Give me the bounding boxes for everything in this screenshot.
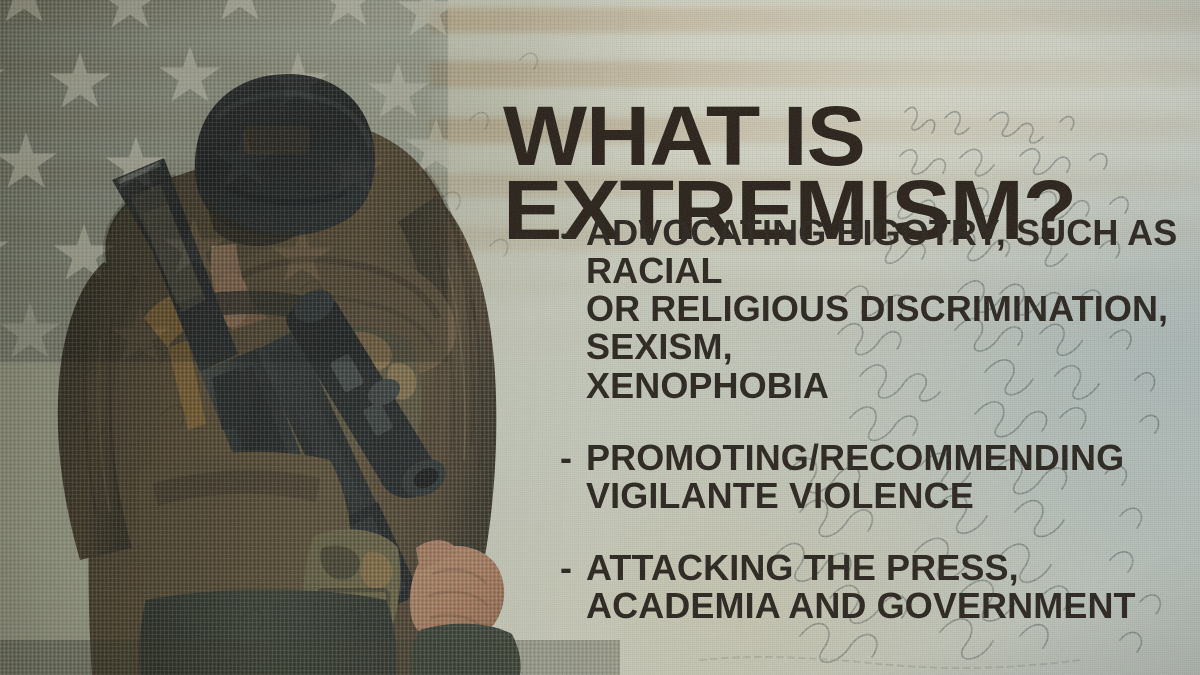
bullet-line: OR RELIGIOUS DISCRIMINATION, SEXISM, <box>560 290 1180 366</box>
bullet-marker: - <box>560 439 572 477</box>
poster-root: WHAT IS EXTREMISM? - ADVOCATING BIGOTRY,… <box>0 0 1200 675</box>
bullet-line: VIGILANTE VIOLENCE <box>560 477 1180 515</box>
bullet-vigilante-violence: - PROMOTING/RECOMMENDING VIGILANTE VIOLE… <box>560 439 1180 515</box>
bullet-line: ACADEMIA AND GOVERNMENT <box>560 587 1180 625</box>
text-content: WHAT IS EXTREMISM? - ADVOCATING BIGOTRY,… <box>0 0 1200 675</box>
bullet-bigotry: - ADVOCATING BIGOTRY, SUCH AS RACIAL OR … <box>560 214 1180 405</box>
bullet-line: ADVOCATING BIGOTRY, SUCH AS RACIAL <box>560 214 1180 290</box>
bullet-marker: - <box>560 549 572 587</box>
bullet-marker: - <box>560 214 572 252</box>
bullet-line: ATTACKING THE PRESS, <box>560 549 1180 587</box>
bullet-line: PROMOTING/RECOMMENDING <box>560 439 1180 477</box>
bullet-line: XENOPHOBIA <box>560 367 1180 405</box>
extremism-definition-list: - ADVOCATING BIGOTRY, SUCH AS RACIAL OR … <box>560 214 1180 655</box>
bullet-attacking-institutions: - ATTACKING THE PRESS, ACADEMIA AND GOVE… <box>560 549 1180 625</box>
